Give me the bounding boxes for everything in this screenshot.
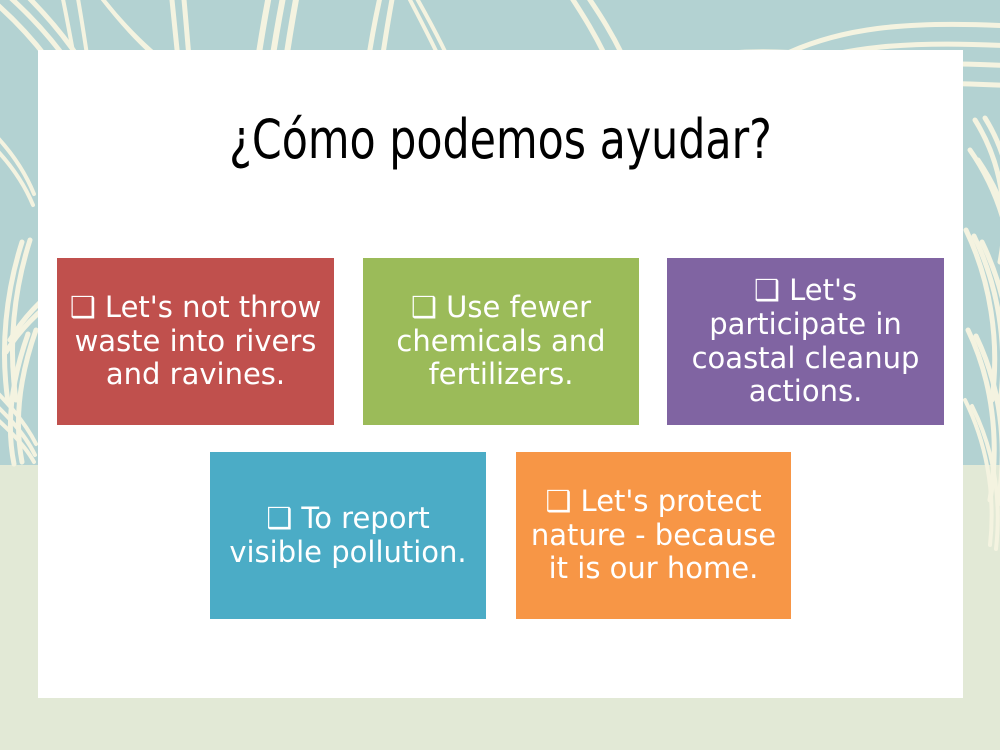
- action-tile-label: ❑ To report visible pollution.: [218, 502, 478, 569]
- page-title: ¿Cómo podemos ayudar?: [94, 110, 908, 169]
- action-tile-dont-throw-waste[interactable]: ❑ Let's not throw waste into rivers and …: [57, 258, 334, 425]
- action-tile-coastal-cleanup[interactable]: ❑ Let's participate in coastal cleanup a…: [667, 258, 944, 425]
- presentation-slide: ¿Cómo podemos ayudar? ❑ Let's not throw …: [0, 0, 1000, 750]
- action-tile-label: ❑ Let's participate in coastal cleanup a…: [675, 274, 936, 409]
- action-tile-protect-nature[interactable]: ❑ Let's protect nature - because it is o…: [516, 452, 791, 619]
- action-tile-label: ❑ Let's not throw waste into rivers and …: [65, 291, 326, 392]
- action-tile-report-pollution[interactable]: ❑ To report visible pollution.: [210, 452, 486, 619]
- action-tile-label: ❑ Use fewer chemicals and fertilizers.: [371, 291, 631, 392]
- action-tile-label: ❑ Let's protect nature - because it is o…: [524, 485, 783, 586]
- action-tile-fewer-chemicals[interactable]: ❑ Use fewer chemicals and fertilizers.: [363, 258, 639, 425]
- slide-content-card: ¿Cómo podemos ayudar? ❑ Let's not throw …: [38, 50, 963, 698]
